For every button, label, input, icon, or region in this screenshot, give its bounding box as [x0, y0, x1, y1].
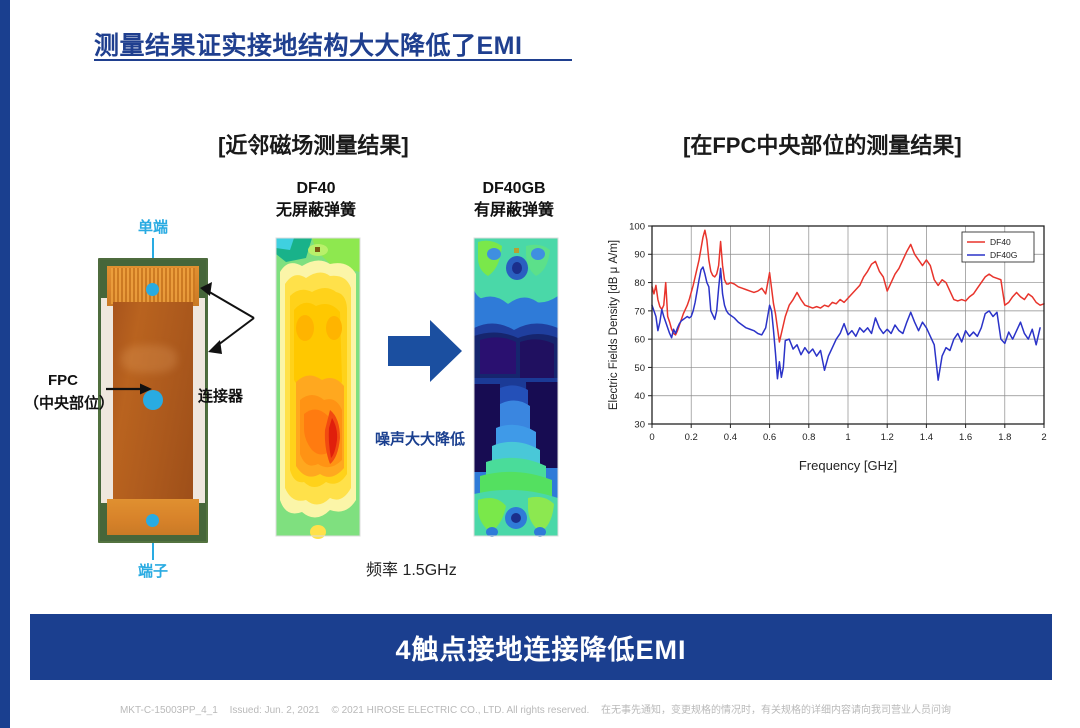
footer-notice: 在无事先通知，变更规格的情况时，有关规格的详细内容请向我司营业人员问询: [601, 705, 951, 716]
svg-text:30: 30: [634, 419, 645, 430]
svg-text:Electric Fields Density [dB μ: Electric Fields Density [dB μ A/m]: [608, 240, 620, 410]
label-fpc: FPC: [48, 372, 78, 389]
svg-text:60: 60: [634, 335, 645, 346]
title-underline: [94, 59, 572, 61]
heatmap-left-title: DF40 无屏蔽弹簧: [226, 178, 406, 221]
heatmap-left-name: DF40: [226, 178, 406, 200]
heatmap-unshielded: [272, 232, 364, 542]
label-terminal: 端子: [112, 560, 194, 581]
svg-text:50: 50: [634, 363, 645, 374]
svg-text:80: 80: [634, 278, 645, 289]
section-header-right: [在FPC中央部位的测量结果]: [683, 128, 962, 160]
svg-text:DF40G: DF40G: [990, 250, 1017, 260]
summary-banner-text: 4触点接地连接降低EMI: [395, 628, 686, 667]
heatmap-left-image: [272, 232, 364, 542]
section-header-left: [近邻磁场测量结果]: [218, 128, 409, 160]
svg-text:0: 0: [649, 432, 654, 443]
svg-text:90: 90: [634, 250, 645, 261]
heatmap-right-image: [470, 232, 562, 542]
heatmap-left-sub: 无屏蔽弹簧: [226, 200, 406, 222]
arrow-to-fpc: [106, 382, 152, 396]
svg-text:1.2: 1.2: [881, 432, 894, 443]
svg-text:2: 2: [1041, 432, 1046, 443]
footer: MKT-C-15003PP_4_1 Issued: Jun. 2, 2021 ©…: [0, 701, 1080, 716]
label-frequency: 频率 1.5GHz: [366, 556, 457, 580]
svg-text:1: 1: [845, 432, 850, 443]
footer-issued: Issued: Jun. 2, 2021: [230, 705, 320, 716]
label-fpc-center: （中央部位）: [24, 392, 114, 413]
emi-measurement-chart: 00.20.40.60.811.21.41.61.823040506070809…: [604, 214, 1052, 482]
summary-banner: 4触点接地连接降低EMI: [30, 614, 1052, 680]
probe-point-top: [146, 283, 159, 296]
label-single-end: 单端: [112, 216, 194, 237]
page-title: 测量结果证实接地结构大大降低了EMI: [94, 26, 522, 62]
svg-text:Frequency [GHz]: Frequency [GHz]: [799, 458, 897, 473]
svg-text:DF40: DF40: [990, 237, 1011, 247]
svg-text:1.8: 1.8: [998, 432, 1011, 443]
svg-text:0.6: 0.6: [763, 432, 776, 443]
footer-copyright: © 2021 HIROSE ELECTRIC CO., LTD. All rig…: [331, 705, 589, 716]
footer-doc-code: MKT-C-15003PP_4_1: [120, 705, 218, 716]
svg-text:1.4: 1.4: [920, 432, 933, 443]
heatmap-right-title: DF40GB 有屏蔽弹簧: [424, 178, 604, 221]
probe-point-bottom: [146, 514, 159, 527]
heatmap-right-name: DF40GB: [424, 178, 604, 200]
chart-svg: 00.20.40.60.811.21.41.61.823040506070809…: [604, 214, 1052, 482]
label-connector: 连接器: [198, 385, 243, 406]
svg-text:0.2: 0.2: [685, 432, 698, 443]
svg-text:0.8: 0.8: [802, 432, 815, 443]
heatmap-right-sub: 有屏蔽弹簧: [424, 200, 604, 222]
slide-page: 测量结果证实接地结构大大降低了EMI [近邻磁场测量结果] [在FPC中央部位的…: [0, 0, 1080, 728]
arrow-to-connector: [196, 280, 258, 362]
transition-arrow-icon: [388, 320, 462, 382]
fpc-connector-photo: [98, 258, 208, 543]
svg-text:40: 40: [634, 391, 645, 402]
label-noise-reduced: 噪声大大降低: [360, 428, 480, 449]
svg-text:1.6: 1.6: [959, 432, 972, 443]
heatmap-shielded: [470, 232, 562, 542]
svg-text:70: 70: [634, 306, 645, 317]
svg-text:100: 100: [629, 221, 645, 232]
svg-text:0.4: 0.4: [724, 432, 737, 443]
